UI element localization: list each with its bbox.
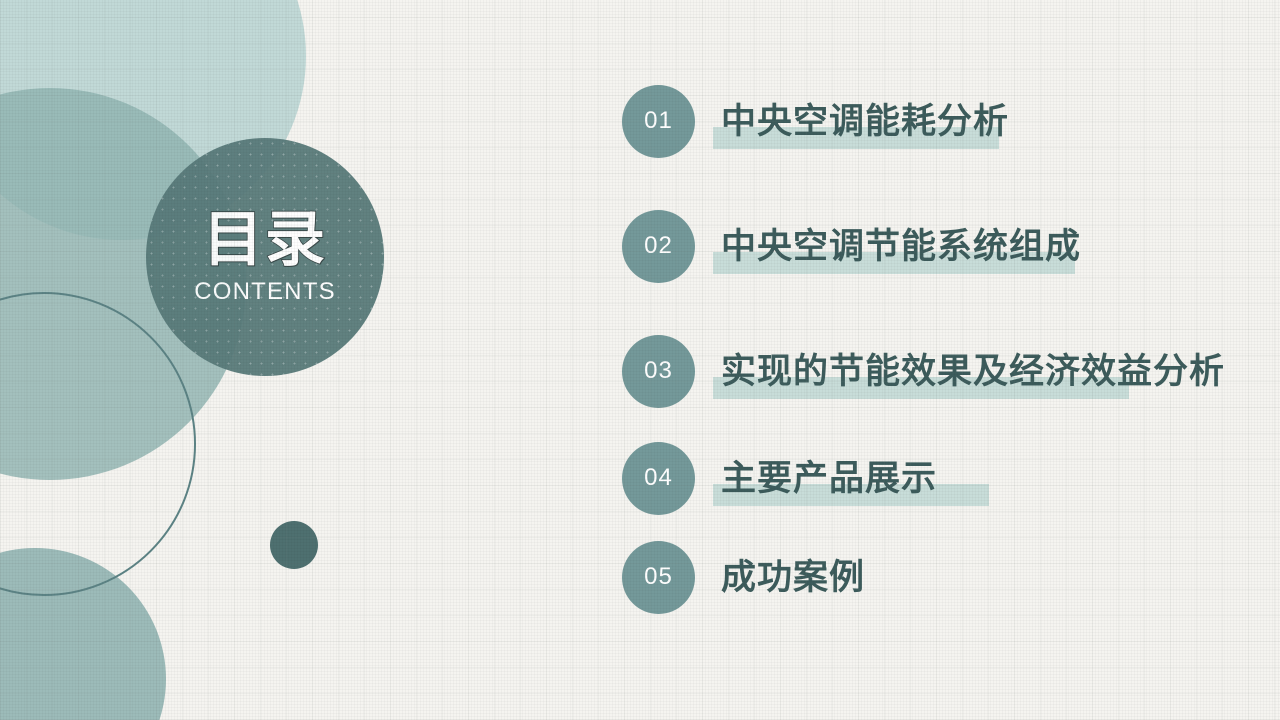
agenda-label-05: 成功案例 — [721, 560, 865, 595]
presentation-slide: 目录 CONTENTS 01 中央空调能耗分析 02 中央空调节能系统组成 03… — [0, 0, 1280, 720]
agenda-item-04[interactable]: 04 主要产品展示 — [622, 439, 1262, 517]
agenda-item-01[interactable]: 01 中央空调能耗分析 — [622, 82, 1262, 160]
agenda-label-01: 中央空调能耗分析 — [721, 104, 1009, 139]
agenda-number-01: 01 — [622, 85, 695, 158]
contents-title-cn: 目录 — [203, 210, 327, 270]
agenda-list: 01 中央空调能耗分析 02 中央空调节能系统组成 03 实现的节能效果及经济效… — [622, 82, 1262, 616]
agenda-label-03: 实现的节能效果及经济效益分析 — [721, 354, 1225, 389]
agenda-text-wrap-01: 中央空调能耗分析 — [721, 82, 1009, 160]
contents-title-en: CONTENTS — [194, 280, 336, 304]
agenda-label-04: 主要产品展示 — [721, 461, 937, 496]
agenda-number-03: 03 — [622, 335, 695, 408]
decorative-circle-dot — [270, 521, 318, 569]
agenda-number-02: 02 — [622, 210, 695, 283]
agenda-text-wrap-05: 成功案例 — [721, 538, 865, 616]
agenda-text-wrap-02: 中央空调节能系统组成 — [721, 207, 1081, 285]
agenda-number-04: 04 — [622, 442, 695, 515]
agenda-item-02[interactable]: 02 中央空调节能系统组成 — [622, 207, 1262, 285]
agenda-label-02: 中央空调节能系统组成 — [721, 229, 1081, 264]
agenda-item-03[interactable]: 03 实现的节能效果及经济效益分析 — [622, 332, 1262, 410]
agenda-text-wrap-04: 主要产品展示 — [721, 439, 937, 517]
agenda-number-05: 05 — [622, 541, 695, 614]
contents-title-circle: 目录 CONTENTS — [146, 138, 384, 376]
agenda-text-wrap-03: 实现的节能效果及经济效益分析 — [721, 332, 1225, 410]
agenda-item-05[interactable]: 05 成功案例 — [622, 538, 1262, 616]
